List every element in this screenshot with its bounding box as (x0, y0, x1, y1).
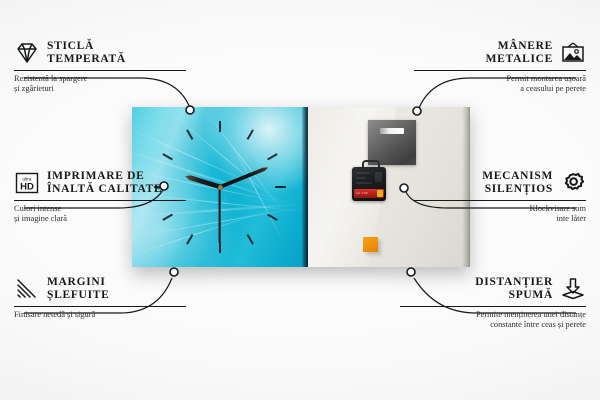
ultra-hd-icon: ultra HD (14, 170, 40, 196)
callout-rule (14, 70, 186, 71)
clock-tick (247, 234, 254, 245)
callout-head: DISTANȚIER SPUMĂ (400, 276, 586, 302)
callout-silent-mechanism: MECANISM SILENȚIOS Klockvisare som inte … (414, 170, 586, 225)
leader-endpoint-spacer (407, 268, 415, 276)
callout-title: IMPRIMARE DE ÎNALTĂ CALITATE (47, 170, 162, 196)
callout-head: ultra HD IMPRIMARE DE ÎNALTĂ CALITATE (14, 170, 186, 196)
callout-title: DISTANȚIER SPUMĂ (475, 276, 553, 302)
callout-rule (14, 306, 186, 307)
callout-title: STICLĂ TEMPERATĂ (47, 40, 126, 66)
battery-plus-terminal (377, 190, 383, 197)
foam-spacer (363, 237, 378, 252)
callout-description: Permite menținerea unei distanțe constan… (400, 310, 586, 331)
clock-hand-second (219, 187, 221, 243)
clock-tick (267, 153, 278, 160)
callout-metal-handles: MÂNERE METALICE Permit montarea ușoară a… (414, 40, 586, 95)
gear-icon (560, 170, 586, 196)
callout-title: MECANISM SILENȚIOS (482, 170, 553, 196)
diamond-icon (14, 40, 40, 66)
mechanism-detail (356, 177, 366, 179)
clock-tick (162, 153, 173, 160)
callout-polished-edges: MARGINI ȘLEFUITE Finisare netedă și sigu… (14, 276, 186, 320)
metal-hanger-bracket (368, 120, 416, 165)
callout-rule (414, 200, 586, 201)
callout-head: MARGINI ȘLEFUITE (14, 276, 186, 302)
clock-tick (186, 129, 193, 140)
callout-title: MÂNERE METALICE (486, 40, 553, 66)
mechanism-detail (356, 172, 370, 174)
callout-head: STICLĂ TEMPERATĂ (14, 40, 186, 66)
callout-description: Rezistentă la spargere și zgârieturi (14, 74, 186, 95)
picture-hanger-icon (560, 40, 586, 66)
mechanism-detail (356, 182, 372, 184)
battery: AA 1.5V (354, 189, 384, 198)
callout-rule (414, 70, 586, 71)
callout-description: Permit montarea ușoară a ceasului pe per… (414, 74, 586, 95)
clock-hand-minute (219, 166, 269, 189)
clock-tick (219, 242, 221, 253)
polished-edges-icon (14, 276, 40, 302)
callout-title: MARGINI ȘLEFUITE (47, 276, 109, 302)
infographic-stage: AA 1.5V (0, 0, 600, 400)
clock-hand-hour (184, 174, 221, 190)
callout-head: MECANISM SILENȚIOS (414, 170, 586, 196)
clock-center-cap (218, 185, 223, 190)
mechanism-detail (375, 172, 382, 182)
clock-tick (219, 121, 221, 132)
clock-tick (186, 234, 193, 245)
callout-description: Culori intense și imagine clară (14, 204, 186, 225)
clock-tick (275, 186, 286, 188)
svg-text:HD: HD (20, 182, 34, 193)
battery-label: AA 1.5V (356, 191, 368, 195)
callout-rule (400, 306, 586, 307)
callout-high-quality-print: ultra HD IMPRIMARE DE ÎNALTĂ CALITATE Cu… (14, 170, 186, 225)
callout-head: MÂNERE METALICE (414, 40, 586, 66)
clock-tick (247, 129, 254, 140)
clock-tick (267, 214, 278, 221)
callout-foam-spacer: DISTANȚIER SPUMĂ Permite menținerea unei… (400, 276, 586, 331)
callout-rule (14, 200, 186, 201)
mechanism-body: AA 1.5V (352, 167, 386, 201)
callout-description: Finisare netedă și sigură (14, 310, 186, 320)
callout-description: Klockvisare som inte låter (414, 204, 586, 225)
clock-mechanism: AA 1.5V (352, 165, 386, 201)
leader-endpoint-edges (170, 268, 178, 276)
foam-spacer-icon (560, 276, 586, 302)
callout-tempered-glass: STICLĂ TEMPERATĂ Rezistentă la spargere … (14, 40, 186, 95)
hanger-slot (380, 128, 404, 134)
